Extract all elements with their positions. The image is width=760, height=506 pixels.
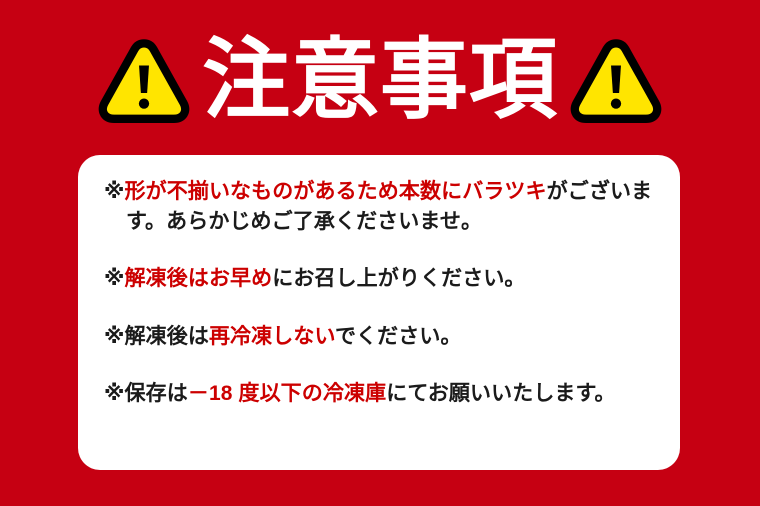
notice-prefix: 保存は	[125, 382, 188, 405]
notice-highlight: 再冷凍しない	[209, 325, 335, 348]
warning-triangle-icon	[98, 36, 190, 128]
notice-plain: でください。	[335, 325, 462, 348]
notice-second-line: あらかじめご了承くださいませ。	[166, 210, 482, 233]
warning-triangle-icon	[570, 36, 662, 128]
notice-plain: にてお願いいたします。	[386, 382, 615, 405]
notice-item: ※解凍後はお早めにお召し上がりください。	[104, 264, 654, 294]
notice-highlight: －18 度以下の冷凍庫	[188, 382, 386, 405]
notice-plain: にお召し上がりください。	[272, 267, 525, 290]
title-row: 注意事項	[0, 28, 760, 136]
notice-highlight: 形が不揃いなものがあるため本数にバラツキ	[125, 180, 547, 203]
notice-highlight: 解凍後はお早め	[125, 267, 273, 290]
notice-mark: ※	[104, 382, 125, 405]
notice-mark: ※	[104, 325, 125, 348]
notice-panel: ※形が不揃いなものがあるため本数にバラツキがございます。あらかじめご了承ください…	[78, 155, 680, 470]
page-title: 注意事項	[196, 38, 564, 126]
notice-prefix: 解凍後は	[125, 325, 209, 348]
notice-mark: ※	[104, 267, 125, 290]
notice-mark: ※	[104, 180, 125, 203]
notice-item: ※保存は－18 度以下の冷凍庫にてお願いいたします。	[104, 379, 654, 409]
notice-banner: 注意事項 ※形が不揃いなものがあるため本数にバラツキがございます。あらかじめご了…	[0, 0, 760, 506]
notice-item: ※形が不揃いなものがあるため本数にバラツキがございます。あらかじめご了承ください…	[104, 177, 654, 237]
notice-list: ※形が不揃いなものがあるため本数にバラツキがございます。あらかじめご了承ください…	[104, 177, 654, 409]
notice-item: ※解凍後は再冷凍しないでください。	[104, 322, 654, 352]
